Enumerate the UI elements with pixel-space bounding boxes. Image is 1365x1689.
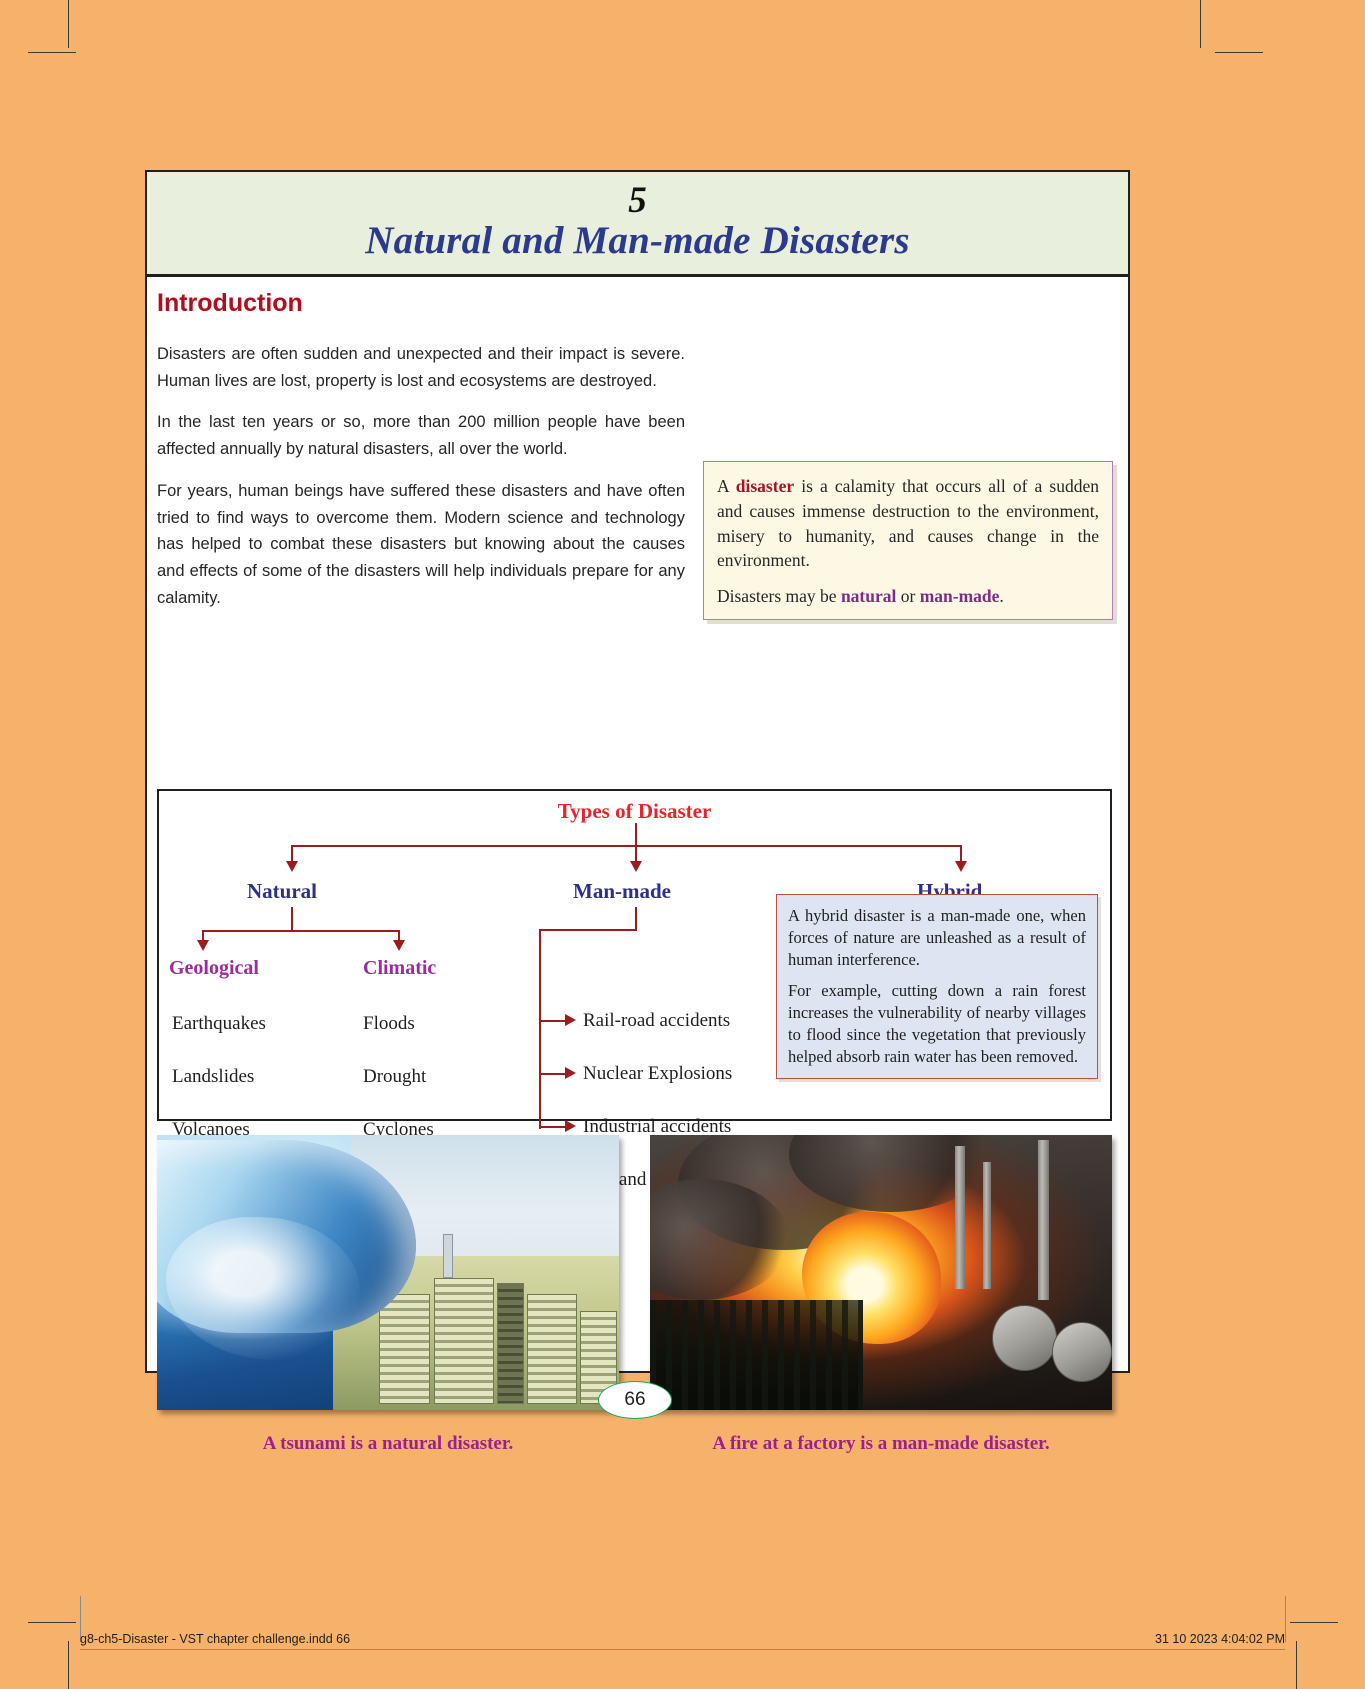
chapter-title: Natural and Man-made Disasters xyxy=(147,221,1128,262)
chapter-header-band: 5 Natural and Man-made Disasters xyxy=(147,172,1128,277)
footer-timestamp: 31 10 2023 4:04:02 PM xyxy=(1155,1632,1285,1646)
arrow-right-industrial-icon xyxy=(565,1120,576,1132)
storage-tank-2 xyxy=(1052,1322,1112,1383)
factory-fire-figure: A fire at a factory is a man-made disast… xyxy=(650,1135,1112,1455)
subnode-geological: Geological xyxy=(169,957,259,980)
crop-mark-bottom-right-h xyxy=(1290,1622,1338,1623)
chapter-number: 5 xyxy=(147,182,1128,219)
crop-mark-top-left-v xyxy=(68,0,69,48)
building-3 xyxy=(497,1283,525,1404)
keyword-natural: natural xyxy=(841,586,896,606)
building-4 xyxy=(527,1294,578,1404)
arrow-down-hybrid-icon xyxy=(955,861,967,872)
introduction-heading: Introduction xyxy=(157,289,1128,318)
manmade-elbow-bar xyxy=(539,929,637,931)
arrow-down-natural-icon xyxy=(286,861,298,872)
footer-rule-right xyxy=(1285,1596,1286,1642)
print-footer: g8-ch5-Disaster - VST chapter challenge.… xyxy=(80,1632,1285,1650)
leaf-earthquakes: Earthquakes xyxy=(172,1013,266,1035)
introduction-text-column: Disasters are often sudden and unexpecte… xyxy=(157,341,685,626)
types-of-disaster-flowchart: Types of Disaster Natural Man-made Hybri… xyxy=(157,789,1112,1121)
building-1 xyxy=(379,1294,430,1404)
intro-paragraph-2: In the last ten years or so, more than 2… xyxy=(157,409,685,462)
manmade-spine xyxy=(539,929,541,1129)
flowchart-title: Types of Disaster xyxy=(159,799,1110,824)
crop-mark-bottom-left-h xyxy=(28,1622,76,1623)
crop-mark-top-left-h xyxy=(28,52,76,53)
factory-fire-photo xyxy=(650,1135,1112,1410)
definition-types-end: . xyxy=(999,586,1003,606)
leaf-drought: Drought xyxy=(363,1066,426,1088)
leaf-nuclear-explosions: Nuclear Explosions xyxy=(583,1063,732,1085)
tsunami-figure: A tsunami is a natural disaster. xyxy=(157,1135,619,1455)
textbook-page: 5 Natural and Man-made Disasters Introdu… xyxy=(145,170,1130,1373)
smokestack-3 xyxy=(1038,1140,1049,1300)
building-2 xyxy=(434,1278,494,1405)
tsunami-caption: A tsunami is a natural disaster. xyxy=(157,1433,619,1455)
definition-sentence-1: A disaster is a calamity that occurs all… xyxy=(717,474,1099,573)
node-natural: Natural xyxy=(247,879,317,904)
crop-mark-top-right-h xyxy=(1215,52,1263,53)
factory-fire-caption: A fire at a factory is a man-made disast… xyxy=(650,1433,1112,1455)
intro-paragraph-3: For years, human beings have suffered th… xyxy=(157,478,685,612)
intro-paragraph-1: Disasters are often sudden and unexpecte… xyxy=(157,341,685,394)
hybrid-disaster-note: A hybrid disaster is a man-made one, whe… xyxy=(776,894,1098,1079)
footer-file-label: g8-ch5-Disaster - VST chapter challenge.… xyxy=(80,1632,350,1646)
node-man-made: Man-made xyxy=(573,879,671,904)
arrow-down-manmade-icon xyxy=(630,861,642,872)
definition-sentence-2: Disasters may be natural or man-made. xyxy=(717,584,1099,609)
smokestack-2 xyxy=(983,1162,991,1289)
flowchart-root-stem xyxy=(635,823,637,845)
disaster-definition-box: A disaster is a calamity that occurs all… xyxy=(703,461,1113,620)
definition-lead-text: A xyxy=(717,476,736,496)
tsunami-photo xyxy=(157,1135,619,1410)
arrow-right-railroad-icon xyxy=(565,1014,576,1026)
tsunami-wave-foam xyxy=(166,1217,360,1360)
hybrid-note-paragraph-2: For example, cutting down a rain forest … xyxy=(788,980,1086,1068)
natural-stem xyxy=(291,907,293,930)
definition-types-lead: Disasters may be xyxy=(717,586,841,606)
tree-line xyxy=(650,1300,863,1410)
page-content: Introduction Disasters are often sudden … xyxy=(147,289,1128,318)
arrow-right-nuclear-icon xyxy=(565,1067,576,1079)
definition-types-middle: or xyxy=(896,586,919,606)
keyword-man-made: man-made xyxy=(920,586,1000,606)
antenna-tower xyxy=(443,1234,452,1278)
flowchart-distribution-bar xyxy=(291,845,961,847)
leaf-floods: Floods xyxy=(363,1013,415,1035)
crop-mark-bottom-left-v xyxy=(68,1641,69,1689)
crop-mark-top-right-v xyxy=(1200,0,1201,48)
manmade-branch-2 xyxy=(539,1073,567,1075)
subnode-climatic: Climatic xyxy=(363,957,436,980)
page-number-badge: 66 xyxy=(598,1381,672,1419)
natural-split-bar xyxy=(202,930,398,932)
storage-tank-1 xyxy=(992,1305,1057,1371)
smokestack-1 xyxy=(955,1146,965,1289)
manmade-branch-3 xyxy=(539,1126,567,1128)
arrow-down-climatic-icon xyxy=(393,940,405,951)
hybrid-note-paragraph-1: A hybrid disaster is a man-made one, whe… xyxy=(788,905,1086,971)
keyword-disaster: disaster xyxy=(736,476,794,496)
manmade-stem xyxy=(635,907,637,929)
manmade-branch-1 xyxy=(539,1020,567,1022)
leaf-rail-road-accidents: Rail-road accidents xyxy=(583,1010,730,1032)
crop-mark-bottom-right-v xyxy=(1296,1641,1297,1689)
arrow-down-geological-icon xyxy=(197,940,209,951)
leaf-landslides: Landslides xyxy=(172,1066,254,1088)
